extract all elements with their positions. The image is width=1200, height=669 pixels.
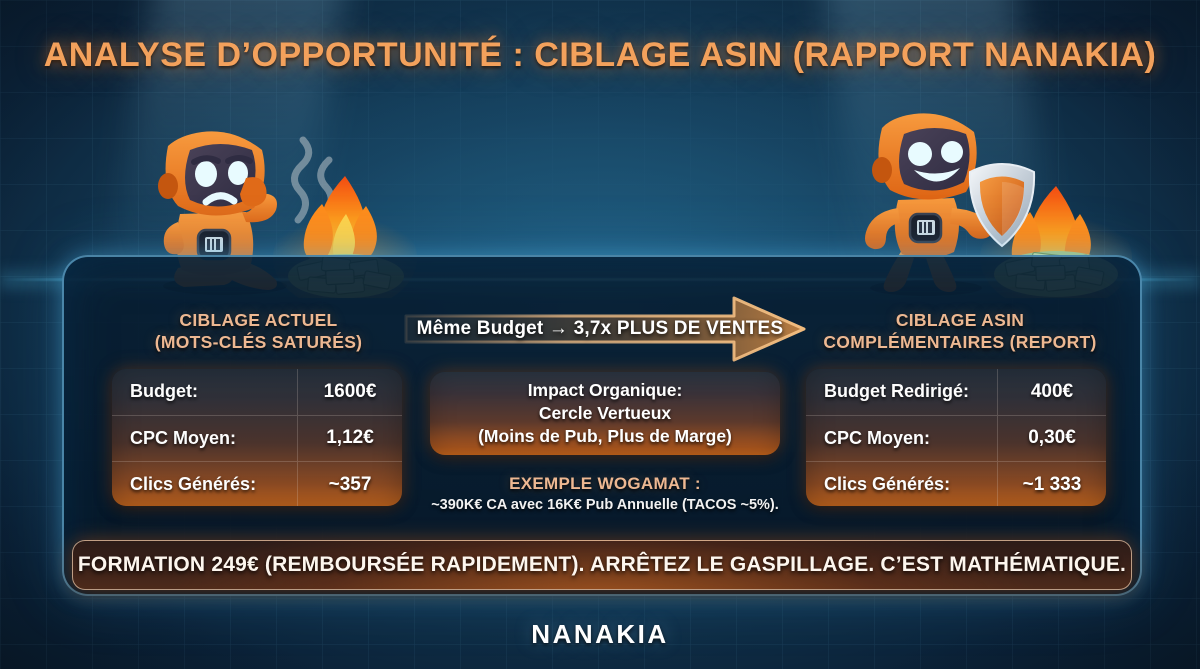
left-stats-table: Budget: 1600€ CPC Moyen: 1,12€ Clics Gén… xyxy=(112,369,402,506)
row-value: ~1 333 xyxy=(997,462,1106,506)
right-stats-table: Budget Redirigé: 400€ CPC Moyen: 0,30€ C… xyxy=(806,369,1106,506)
row-value: 1,12€ xyxy=(297,416,402,462)
impact-line2: Cercle Vertueux xyxy=(539,402,671,425)
row-label: Budget: xyxy=(112,381,297,402)
impact-line1: Impact Organique: xyxy=(528,379,683,402)
cta-banner-text: FORMATION 249€ (REMBOURSÉE RAPIDEMENT). … xyxy=(78,553,1126,577)
table-row: Budget Redirigé: 400€ xyxy=(806,369,1106,415)
fire-icon xyxy=(304,176,377,266)
row-label: CPC Moyen: xyxy=(806,428,997,449)
table-row: Budget: 1600€ xyxy=(112,369,402,415)
infographic-canvas: ANALYSE D’OPPORTUNITÉ : CIBLAGE ASIN (RA… xyxy=(0,0,1200,669)
right-header-line1: CIBLAGE ASIN xyxy=(790,309,1130,331)
left-header-line2: (MOTS-CLÉS SATURÉS) xyxy=(96,331,421,353)
row-label: Clics Générés: xyxy=(112,474,297,495)
row-label: Budget Redirigé: xyxy=(806,381,997,402)
row-label: Clics Générés: xyxy=(806,474,997,495)
right-column-header: CIBLAGE ASIN COMPLÉMENTAIRES (REPORT) xyxy=(790,309,1130,353)
row-value: 400€ xyxy=(997,369,1106,415)
cta-banner[interactable]: FORMATION 249€ (REMBOURSÉE RAPIDEMENT). … xyxy=(72,540,1132,590)
table-row: Clics Générés: ~357 xyxy=(112,461,402,506)
table-row: Clics Générés: ~1 333 xyxy=(806,461,1106,506)
row-value: 0,30€ xyxy=(997,416,1106,462)
example-title: EXEMPLE WOGAMAT : xyxy=(400,474,810,494)
row-value: ~357 xyxy=(297,462,402,506)
impact-line3: (Moins de Pub, Plus de Marge) xyxy=(478,425,732,448)
brand-logo: NANAKIA xyxy=(0,619,1200,650)
example-subtitle: ~390K€ CA avec 16K€ Pub Annuelle (TACOS … xyxy=(400,497,810,513)
impact-organique-box: Impact Organique: Cercle Vertueux (Moins… xyxy=(430,372,780,455)
table-row: CPC Moyen: 0,30€ xyxy=(806,415,1106,462)
right-header-line2: COMPLÉMENTAIRES (REPORT) xyxy=(790,331,1130,353)
row-value: 1600€ xyxy=(297,369,402,415)
left-column-header: CIBLAGE ACTUEL (MOTS-CLÉS SATURÉS) xyxy=(96,309,421,353)
table-row: CPC Moyen: 1,12€ xyxy=(112,415,402,462)
example-block: EXEMPLE WOGAMAT : ~390K€ CA avec 16K€ Pu… xyxy=(400,474,810,513)
row-label: CPC Moyen: xyxy=(112,428,297,449)
page-title: ANALYSE D’OPPORTUNITÉ : CIBLAGE ASIN (RA… xyxy=(0,36,1200,75)
arrow-label: Même Budget → 3,7x PLUS DE VENTES xyxy=(404,318,796,340)
left-header-line1: CIBLAGE ACTUEL xyxy=(96,309,421,331)
